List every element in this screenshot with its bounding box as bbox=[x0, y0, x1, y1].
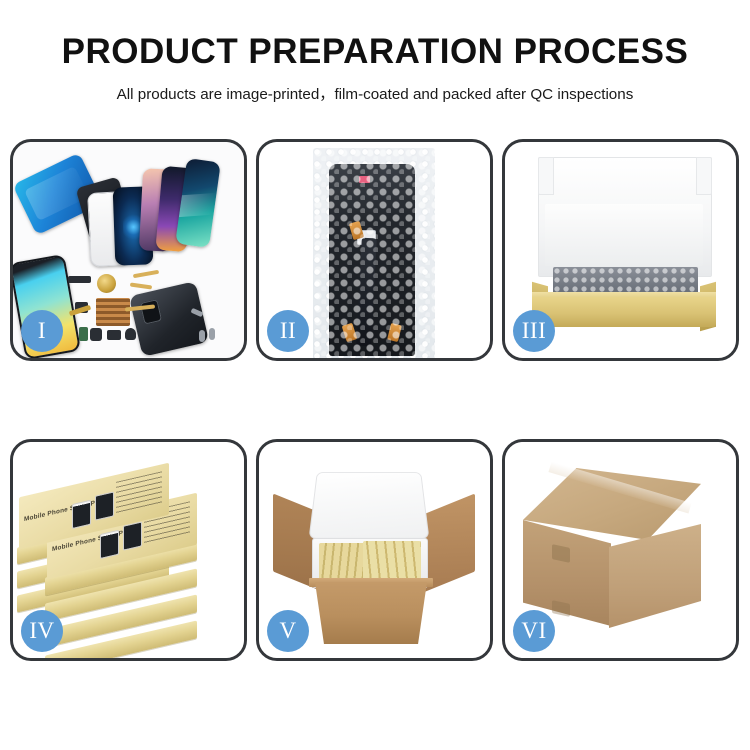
process-step-5[interactable]: V bbox=[256, 439, 493, 661]
bubble-wrap-sleeve bbox=[313, 148, 435, 358]
step-2-badge: II bbox=[267, 310, 309, 352]
process-step-grid: I II bbox=[10, 139, 740, 661]
page-title: PRODUCT PREPARATION PROCESS bbox=[0, 34, 750, 71]
process-step-3[interactable]: III bbox=[502, 139, 739, 361]
step-3-badge: III bbox=[513, 310, 555, 352]
foam-sheet bbox=[545, 204, 703, 266]
qc-pink-mark bbox=[359, 176, 370, 183]
gold-coil-part bbox=[97, 274, 116, 293]
orange-tab-left bbox=[342, 323, 358, 343]
styrofoam-lid bbox=[309, 472, 430, 539]
process-step-2[interactable]: II bbox=[256, 139, 493, 361]
process-step-6[interactable]: VI bbox=[502, 439, 739, 661]
flex-cable bbox=[356, 238, 377, 347]
step-4-badge: IV bbox=[21, 610, 63, 652]
lid-flap-right bbox=[696, 157, 712, 195]
wrapped-lcd-panel bbox=[329, 164, 415, 356]
orange-tab-right bbox=[387, 323, 402, 342]
lid-flap-left bbox=[538, 157, 554, 195]
connector-grid-chip bbox=[96, 298, 130, 326]
gold-boxes-row-2 bbox=[363, 541, 421, 581]
carton-front-wall bbox=[315, 582, 427, 644]
process-step-1[interactable]: I bbox=[10, 139, 247, 361]
orange-tab-top bbox=[349, 221, 364, 240]
page-subtitle: All products are image-printed，film-coat… bbox=[0, 82, 750, 104]
kraft-box-body bbox=[532, 297, 716, 327]
step-6-badge: VI bbox=[513, 610, 555, 652]
process-step-4[interactable]: Mobile Phone Spare Parts Mobile Phone Sp… bbox=[10, 439, 247, 661]
step-5-badge: V bbox=[267, 610, 309, 652]
step-1-badge: I bbox=[21, 310, 63, 352]
page-header: PRODUCT PREPARATION PROCESS All products… bbox=[0, 0, 750, 104]
